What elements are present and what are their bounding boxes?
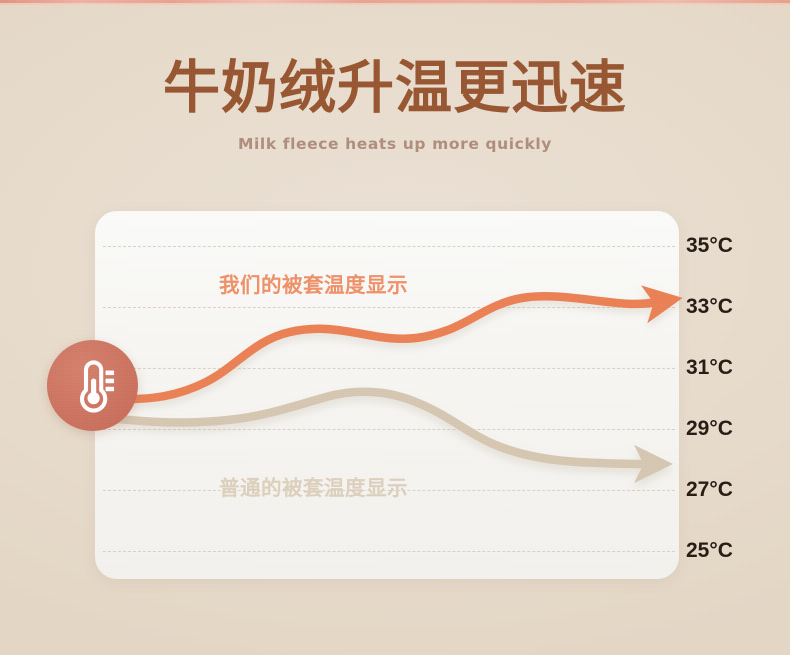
series-label-normal: 普通的被套温度显示 bbox=[219, 471, 408, 501]
y-label-33c: 33°C bbox=[686, 295, 733, 319]
y-label-27c: 27°C bbox=[686, 478, 733, 502]
y-label-29c: 29°C bbox=[686, 417, 733, 441]
series-label-ours: 我们的被套温度显示 bbox=[219, 268, 408, 298]
y-label-35c: 35°C bbox=[686, 234, 733, 258]
series-line-ours bbox=[118, 296, 658, 399]
thermometer-badge bbox=[47, 340, 138, 431]
y-axis-labels: 35°C 33°C 31°C 29°C 27°C 25°C bbox=[686, 0, 786, 655]
page-root: 牛奶绒升温更迅速 Milk fleece heats up more quick… bbox=[0, 0, 790, 655]
thermometer-icon bbox=[64, 357, 122, 415]
y-label-31c: 31°C bbox=[686, 356, 733, 380]
chart-plot-area bbox=[0, 0, 790, 655]
series-line-normal bbox=[118, 392, 648, 464]
y-label-25c: 25°C bbox=[686, 539, 733, 563]
